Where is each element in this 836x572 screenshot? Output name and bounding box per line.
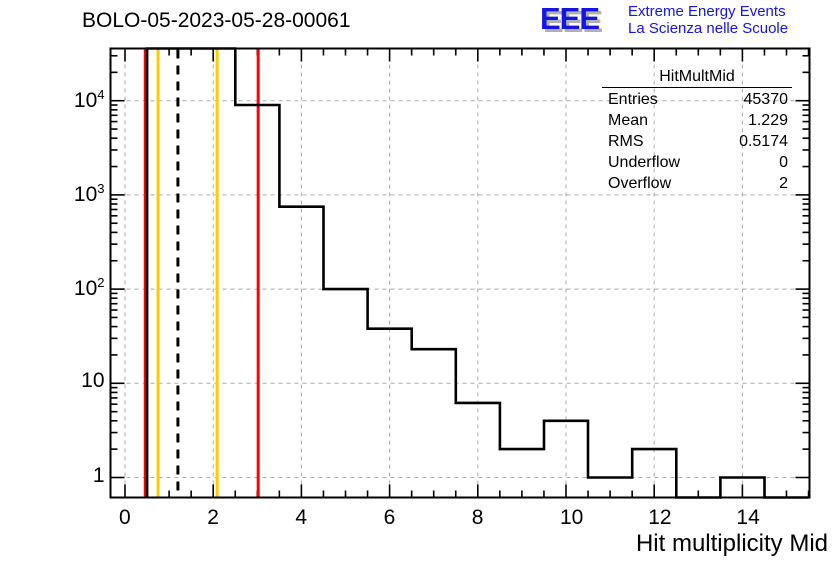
x-tick-label: 12 bbox=[648, 506, 671, 530]
stats-title: HitMultMid bbox=[602, 68, 792, 88]
stats-row-value: 45370 bbox=[744, 89, 789, 110]
eee-logo-mark: EEE bbox=[540, 3, 599, 34]
x-tick-label: 2 bbox=[207, 506, 219, 530]
stats-row: Mean1.229 bbox=[602, 110, 792, 131]
stats-row-label: Entries bbox=[608, 89, 658, 110]
y-tick-label: 102 bbox=[49, 275, 105, 301]
stats-row-value: 0 bbox=[779, 152, 788, 173]
stats-row-value: 1.229 bbox=[748, 110, 788, 131]
y-tick-label: 103 bbox=[49, 181, 105, 207]
y-tick-label: 1 bbox=[49, 464, 105, 488]
stats-row-value: 2 bbox=[779, 173, 788, 194]
x-tick-label: 10 bbox=[560, 506, 583, 530]
stats-row: RMS0.5174 bbox=[602, 131, 792, 152]
marker-lines bbox=[145, 50, 258, 497]
stats-row-label: Overflow bbox=[608, 173, 671, 194]
stats-row: Overflow2 bbox=[602, 173, 792, 194]
stats-row-value: 0.5174 bbox=[739, 131, 788, 152]
y-tick-label: 104 bbox=[49, 87, 105, 113]
x-tick-label: 14 bbox=[736, 506, 759, 530]
x-tick-label: 6 bbox=[384, 506, 396, 530]
stats-row-label: Underflow bbox=[608, 152, 680, 173]
stats-row-label: Mean bbox=[608, 110, 648, 131]
x-tick-label: 0 bbox=[119, 506, 131, 530]
stats-row: Underflow0 bbox=[602, 152, 792, 173]
stats-row-label: RMS bbox=[608, 131, 644, 152]
x-tick-label: 8 bbox=[472, 506, 484, 530]
x-tick-label: 4 bbox=[295, 506, 307, 530]
y-tick-label: 10 bbox=[49, 369, 105, 393]
stats-row: Entries45370 bbox=[602, 89, 792, 110]
stats-rows: Entries45370Mean1.229RMS0.5174Underflow0… bbox=[602, 89, 792, 194]
stats-box: HitMultMid Entries45370Mean1.229RMS0.517… bbox=[602, 68, 792, 194]
x-axis-title: Hit multiplicity Mid bbox=[636, 530, 828, 558]
root-canvas: BOLO-05-2023-05-28-00061 EEE EEE Extreme… bbox=[0, 0, 836, 572]
